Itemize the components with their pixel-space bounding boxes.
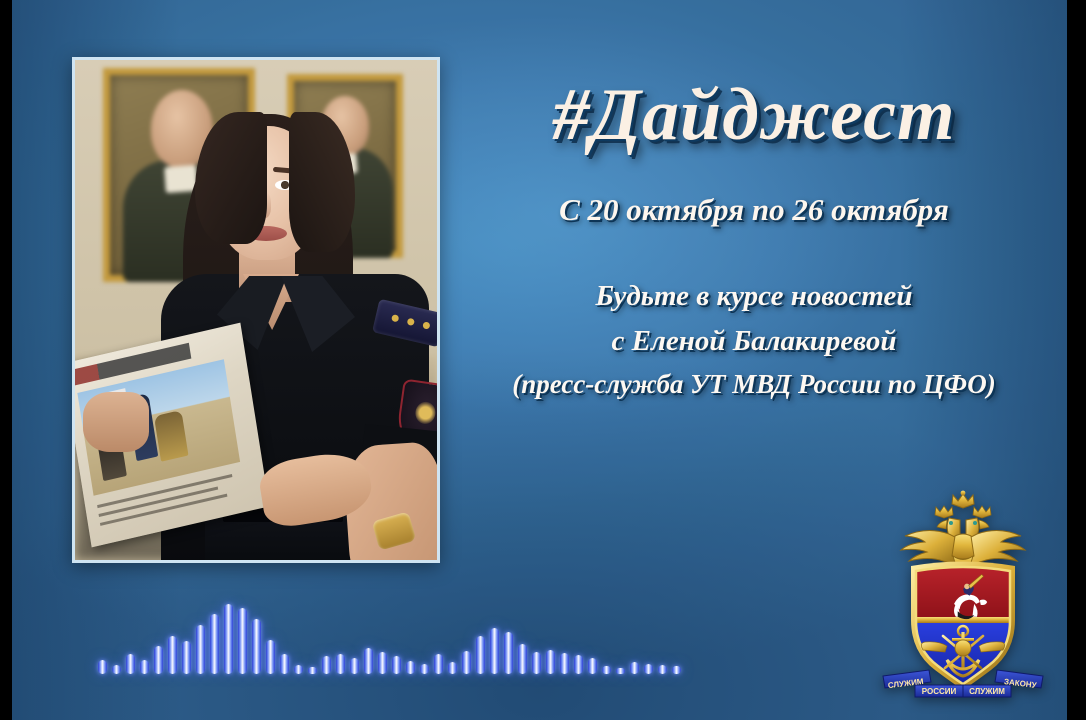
waveform-bar <box>434 654 443 674</box>
waveform-bar <box>560 653 569 674</box>
waveform-bar <box>294 665 303 674</box>
waveform-bar <box>448 662 457 674</box>
photo-image <box>75 60 437 560</box>
waveform-bar <box>238 608 247 674</box>
waveform-bar <box>252 619 261 674</box>
letterbox-bar-right <box>1067 0 1086 720</box>
newspaper-figure <box>154 410 189 462</box>
waveform-bar <box>406 661 415 674</box>
waveform-bar <box>364 648 373 674</box>
waveform-bar <box>462 651 471 674</box>
hair-strand-right <box>289 112 355 252</box>
waveform-bar <box>574 655 583 674</box>
waveform-bar <box>322 656 331 674</box>
motto-center-bottom: СЛУЖИМ <box>969 687 1005 696</box>
text-column: #Дайджест С 20 октября по 26 октября Буд… <box>452 60 1056 406</box>
waveform-bar <box>308 667 317 674</box>
officer-figure <box>75 60 437 560</box>
poster-canvas: #Дайджест С 20 октября по 26 октября Буд… <box>0 0 1086 720</box>
tagline-line-3: (пресс-служба УТ МВД России по ЦФО) <box>452 364 1056 406</box>
waveform-bar <box>630 662 639 674</box>
rank-pip <box>422 321 430 329</box>
waveform-bar <box>98 660 107 674</box>
waveform-bar <box>126 654 135 674</box>
waveform-bar <box>392 656 401 674</box>
waveform-bar <box>672 666 681 674</box>
waveform-bar <box>378 652 387 674</box>
waveform-bar <box>588 658 597 674</box>
waveform-bar <box>616 668 625 674</box>
waveform-bar <box>210 614 219 674</box>
waveform-bar <box>644 664 653 674</box>
waveform-bar <box>140 660 149 674</box>
waveform-bar <box>420 664 429 674</box>
shield-upper-red <box>913 568 1013 620</box>
waveform-bar <box>196 625 205 674</box>
tagline-block: Будьте в курсе новостей с Еленой Балакир… <box>452 274 1056 406</box>
waveform-bar <box>112 665 121 674</box>
hair-strand-left <box>195 112 267 244</box>
waveform-bar <box>168 636 177 674</box>
waveform-bar <box>518 644 527 674</box>
waveform-bar <box>476 636 485 674</box>
motto-center-top: РОССИИ <box>922 687 957 696</box>
waveform-bar <box>154 646 163 674</box>
rank-pip <box>391 314 399 322</box>
waveform-bar <box>350 658 359 674</box>
mvd-transport-police-emblem: СЛУЖИМ ЗАКОНУ РОССИИ СЛУЖИМ <box>875 490 1051 702</box>
waveform-bar <box>182 641 191 674</box>
date-range: С 20 октября по 26 октября <box>452 192 1056 228</box>
hand-left <box>83 392 149 452</box>
rank-pip <box>407 318 415 326</box>
letterbox-bar-left <box>0 0 12 720</box>
waveform-bar <box>280 654 289 674</box>
waveform-bar <box>602 666 611 674</box>
waveform-bar <box>658 665 667 674</box>
double-headed-eagle-icon <box>901 491 1025 568</box>
audio-waveform <box>98 564 798 674</box>
waveform-bar <box>266 640 275 674</box>
presenter-photo <box>72 57 440 563</box>
waveform-bar <box>546 650 555 674</box>
tagline-line-2: с Еленой Балакиревой <box>452 319 1056 364</box>
waveform-bar <box>224 604 233 674</box>
page-title: #Дайджест <box>452 78 1056 152</box>
waveform-bar <box>490 628 499 674</box>
tagline-line-1: Будьте в курсе новостей <box>452 274 1056 319</box>
waveform-bar <box>336 654 345 674</box>
waveform-bar <box>532 652 541 674</box>
waveform-bar <box>504 632 513 674</box>
